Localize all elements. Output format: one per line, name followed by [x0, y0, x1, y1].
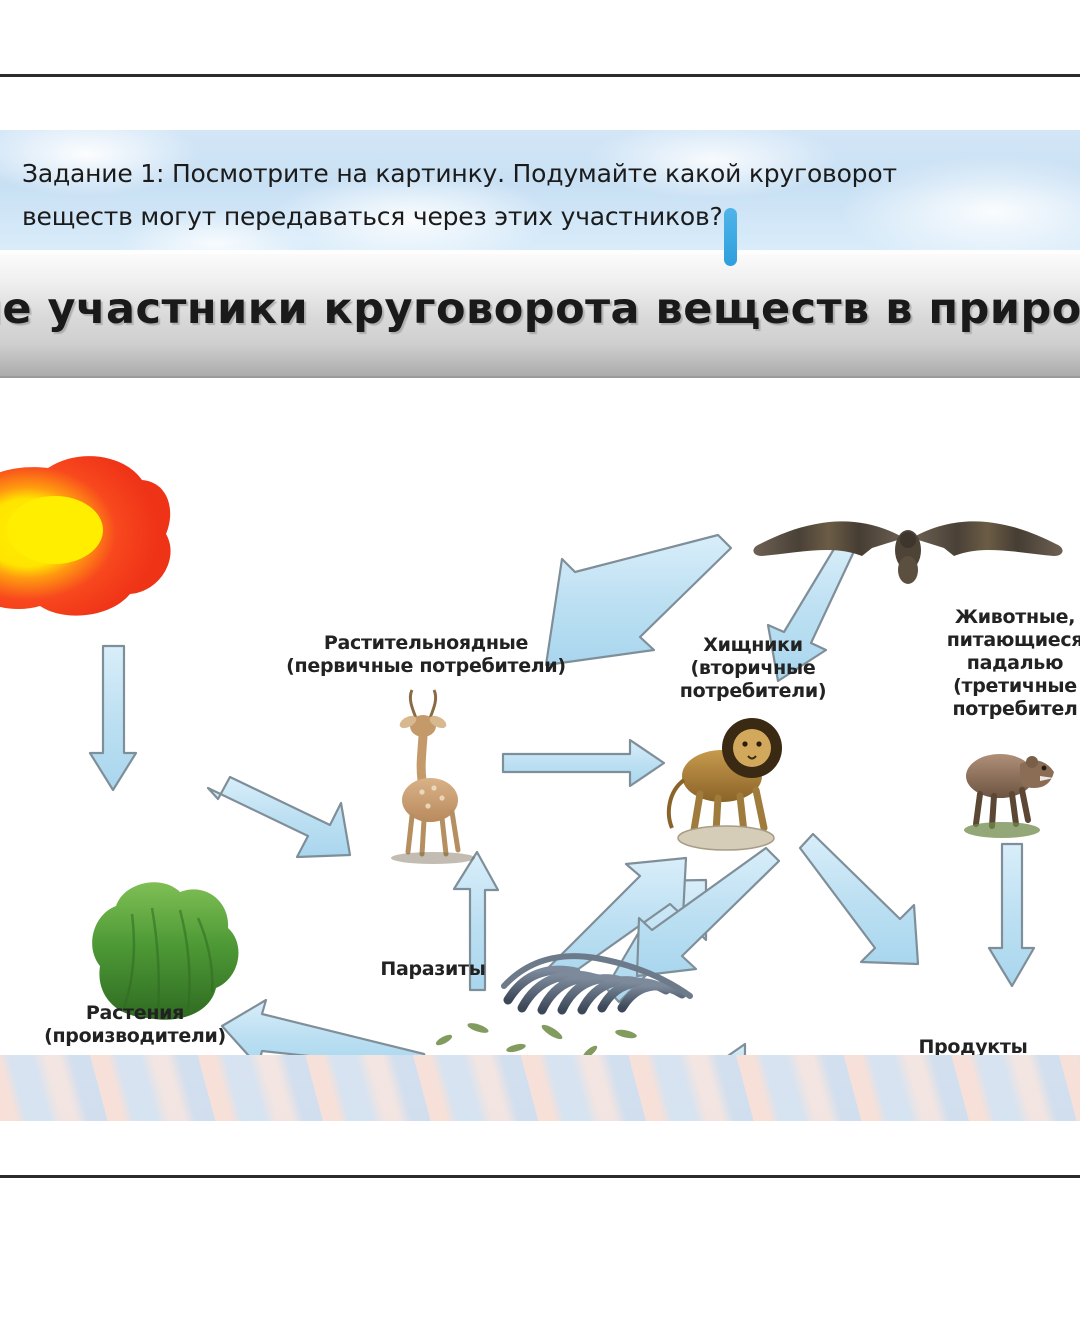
- blue-pen-stroke: [724, 208, 737, 266]
- diagram-graphics: [0, 378, 1080, 1055]
- page-divider-bottom: [0, 1175, 1080, 1178]
- slide-title: ые участники круговорота веществ в приро…: [0, 284, 1080, 334]
- hyena-graphic: [964, 754, 1054, 838]
- label-herbivores: Растительноядные (первичные потребители): [276, 632, 576, 678]
- plant-graphic: [92, 882, 238, 1019]
- slide-title-band: ые участники круговорота веществ в приро…: [0, 254, 1080, 378]
- cycle-diagram: Растительноядные (первичные потребители)…: [0, 378, 1080, 1055]
- label-scavengers: Животные, питающиеся падалью (третичные …: [930, 606, 1080, 721]
- deer-graphic: [391, 690, 475, 864]
- presentation-slide: Задание 1: Посмотрите на картинку. Подум…: [0, 130, 1080, 1055]
- page-root: Задание 1: Посмотрите на картинку. Подум…: [0, 0, 1080, 1344]
- label-plants: Растения (производители): [0, 1002, 270, 1048]
- label-parasites: Паразиты: [358, 958, 508, 981]
- footer-texture-band: [0, 1055, 1080, 1121]
- label-predators: Хищники (вторичные потребители): [648, 634, 858, 703]
- eagle-graphic: [753, 521, 1062, 584]
- bacteria-graphic: [434, 1021, 637, 1055]
- page-divider-top: [0, 74, 1080, 77]
- task-question-text: Задание 1: Посмотрите на картинку. Подум…: [22, 152, 1057, 238]
- sun-graphic: [0, 456, 171, 616]
- label-wastes: Продукты выделения и остатки трупов: [866, 1036, 1080, 1055]
- question-band: Задание 1: Посмотрите на картинку. Подум…: [0, 130, 1080, 252]
- lion-graphic: [669, 718, 782, 850]
